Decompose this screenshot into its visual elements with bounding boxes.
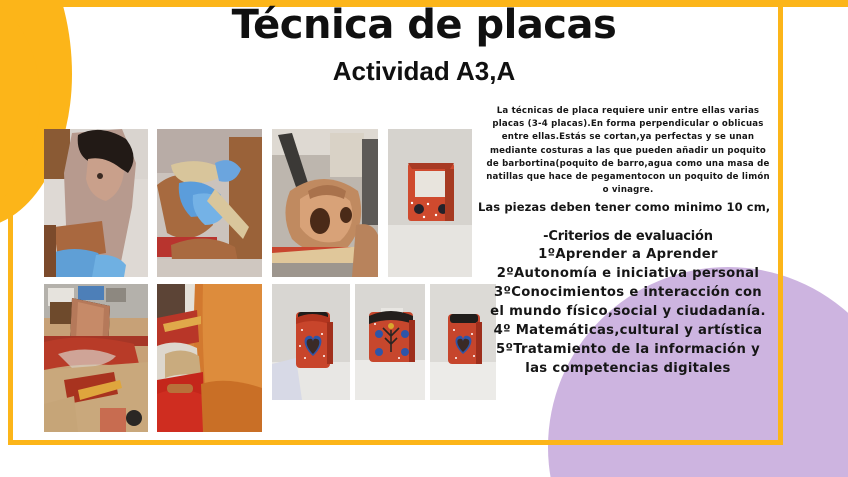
description-line-5: de barbortina(poquito de barro,agua como…	[478, 158, 778, 171]
description-text-block: La técnicas de placa requiere unir entre…	[478, 105, 778, 215]
criteria-heading: -Criterios de evaluación	[478, 228, 778, 245]
photo-woman-shaping-clay-slab	[44, 129, 148, 277]
criteria-item-5: 5ºTratamiento de la información y	[478, 340, 778, 359]
page-subtitle: Actividad A3,A	[0, 56, 848, 87]
description-line-7: o vinagre.	[478, 184, 778, 197]
criteria-item-4: 4º Matemáticas,cultural y artística	[478, 321, 778, 340]
slide-canvas: Técnica de placas Actividad A3,A	[0, 0, 848, 477]
photo-finished-piece-front	[388, 129, 472, 277]
criteria-item-5-cont: las competencias digitales	[478, 359, 778, 378]
photo-clay-piece-workshop	[272, 129, 378, 277]
description-line-1: La técnicas de placa requiere unir entre…	[478, 105, 778, 118]
photo-finished-piece-side	[355, 284, 425, 400]
description-line-6: natillas que hace de pegamentocon un poq…	[478, 171, 778, 184]
description-line-4: mediante costuras a las que pueden añadi…	[478, 145, 778, 158]
criteria-block: -Criterios de evaluación 1ºAprender a Ap…	[478, 228, 778, 378]
photo-slab-box-on-table	[44, 284, 148, 432]
criteria-item-2: 2ºAutonomía e iniciativa personal	[478, 264, 778, 283]
description-line-3: entre ellas.Estás se cortan,ya perfectas…	[478, 131, 778, 144]
photo-hands-joining-slabs	[157, 129, 262, 277]
description-closing-line: Las piezas deben tener como minimo 10 cm…	[478, 199, 778, 215]
criteria-item-1: 1ºAprender a Aprender	[478, 245, 778, 264]
page-title: Técnica de placas	[0, 2, 848, 48]
criteria-item-3-cont: el mundo físico,social y ciudadanía.	[478, 302, 778, 321]
criteria-item-3: 3ºConocimientos e interacción con	[478, 283, 778, 302]
photo-smoothing-clay-surface	[157, 284, 262, 432]
photo-finished-piece-heart	[272, 284, 350, 400]
description-line-2: placas (3-4 placas).En forma perpendicul…	[478, 118, 778, 131]
